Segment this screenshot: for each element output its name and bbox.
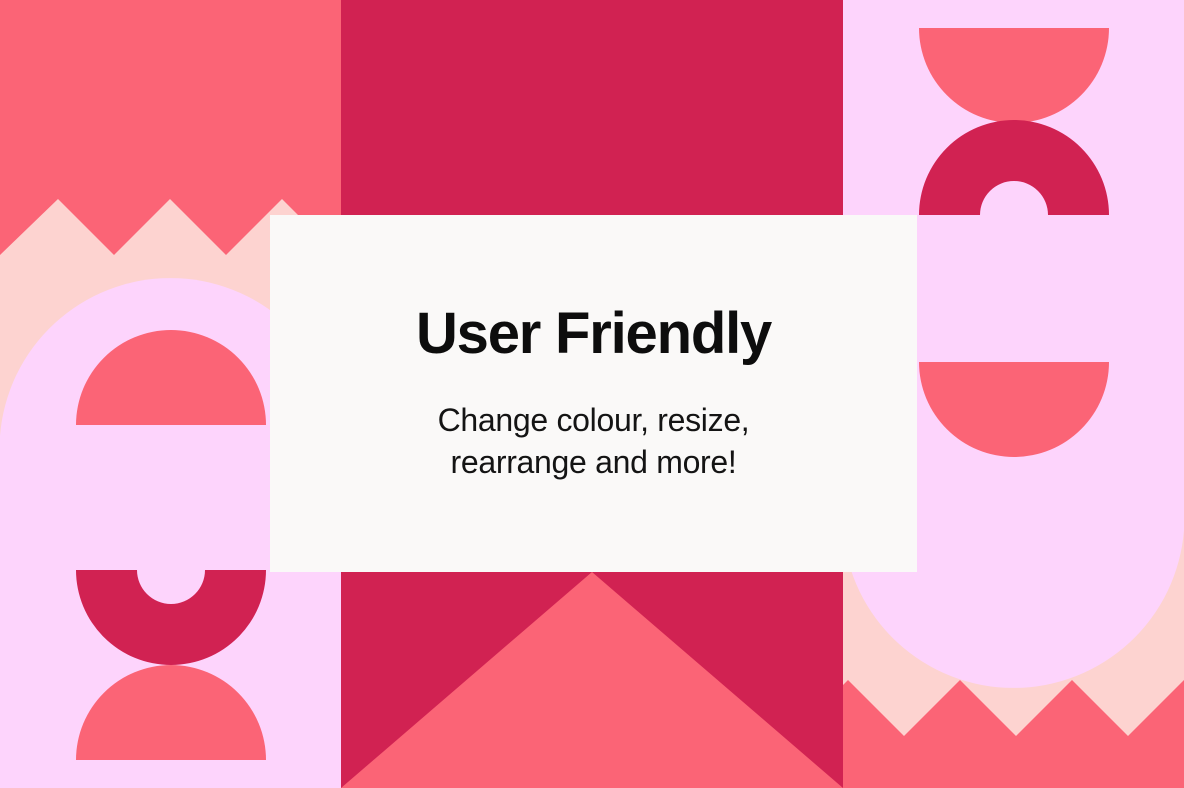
page-title: User Friendly bbox=[416, 304, 771, 365]
content-card: User Friendly Change colour, resize, rea… bbox=[270, 215, 917, 572]
poster-canvas: User Friendly Change colour, resize, rea… bbox=[0, 0, 1184, 788]
page-subtitle: Change colour, resize, rearrange and mor… bbox=[379, 399, 809, 483]
